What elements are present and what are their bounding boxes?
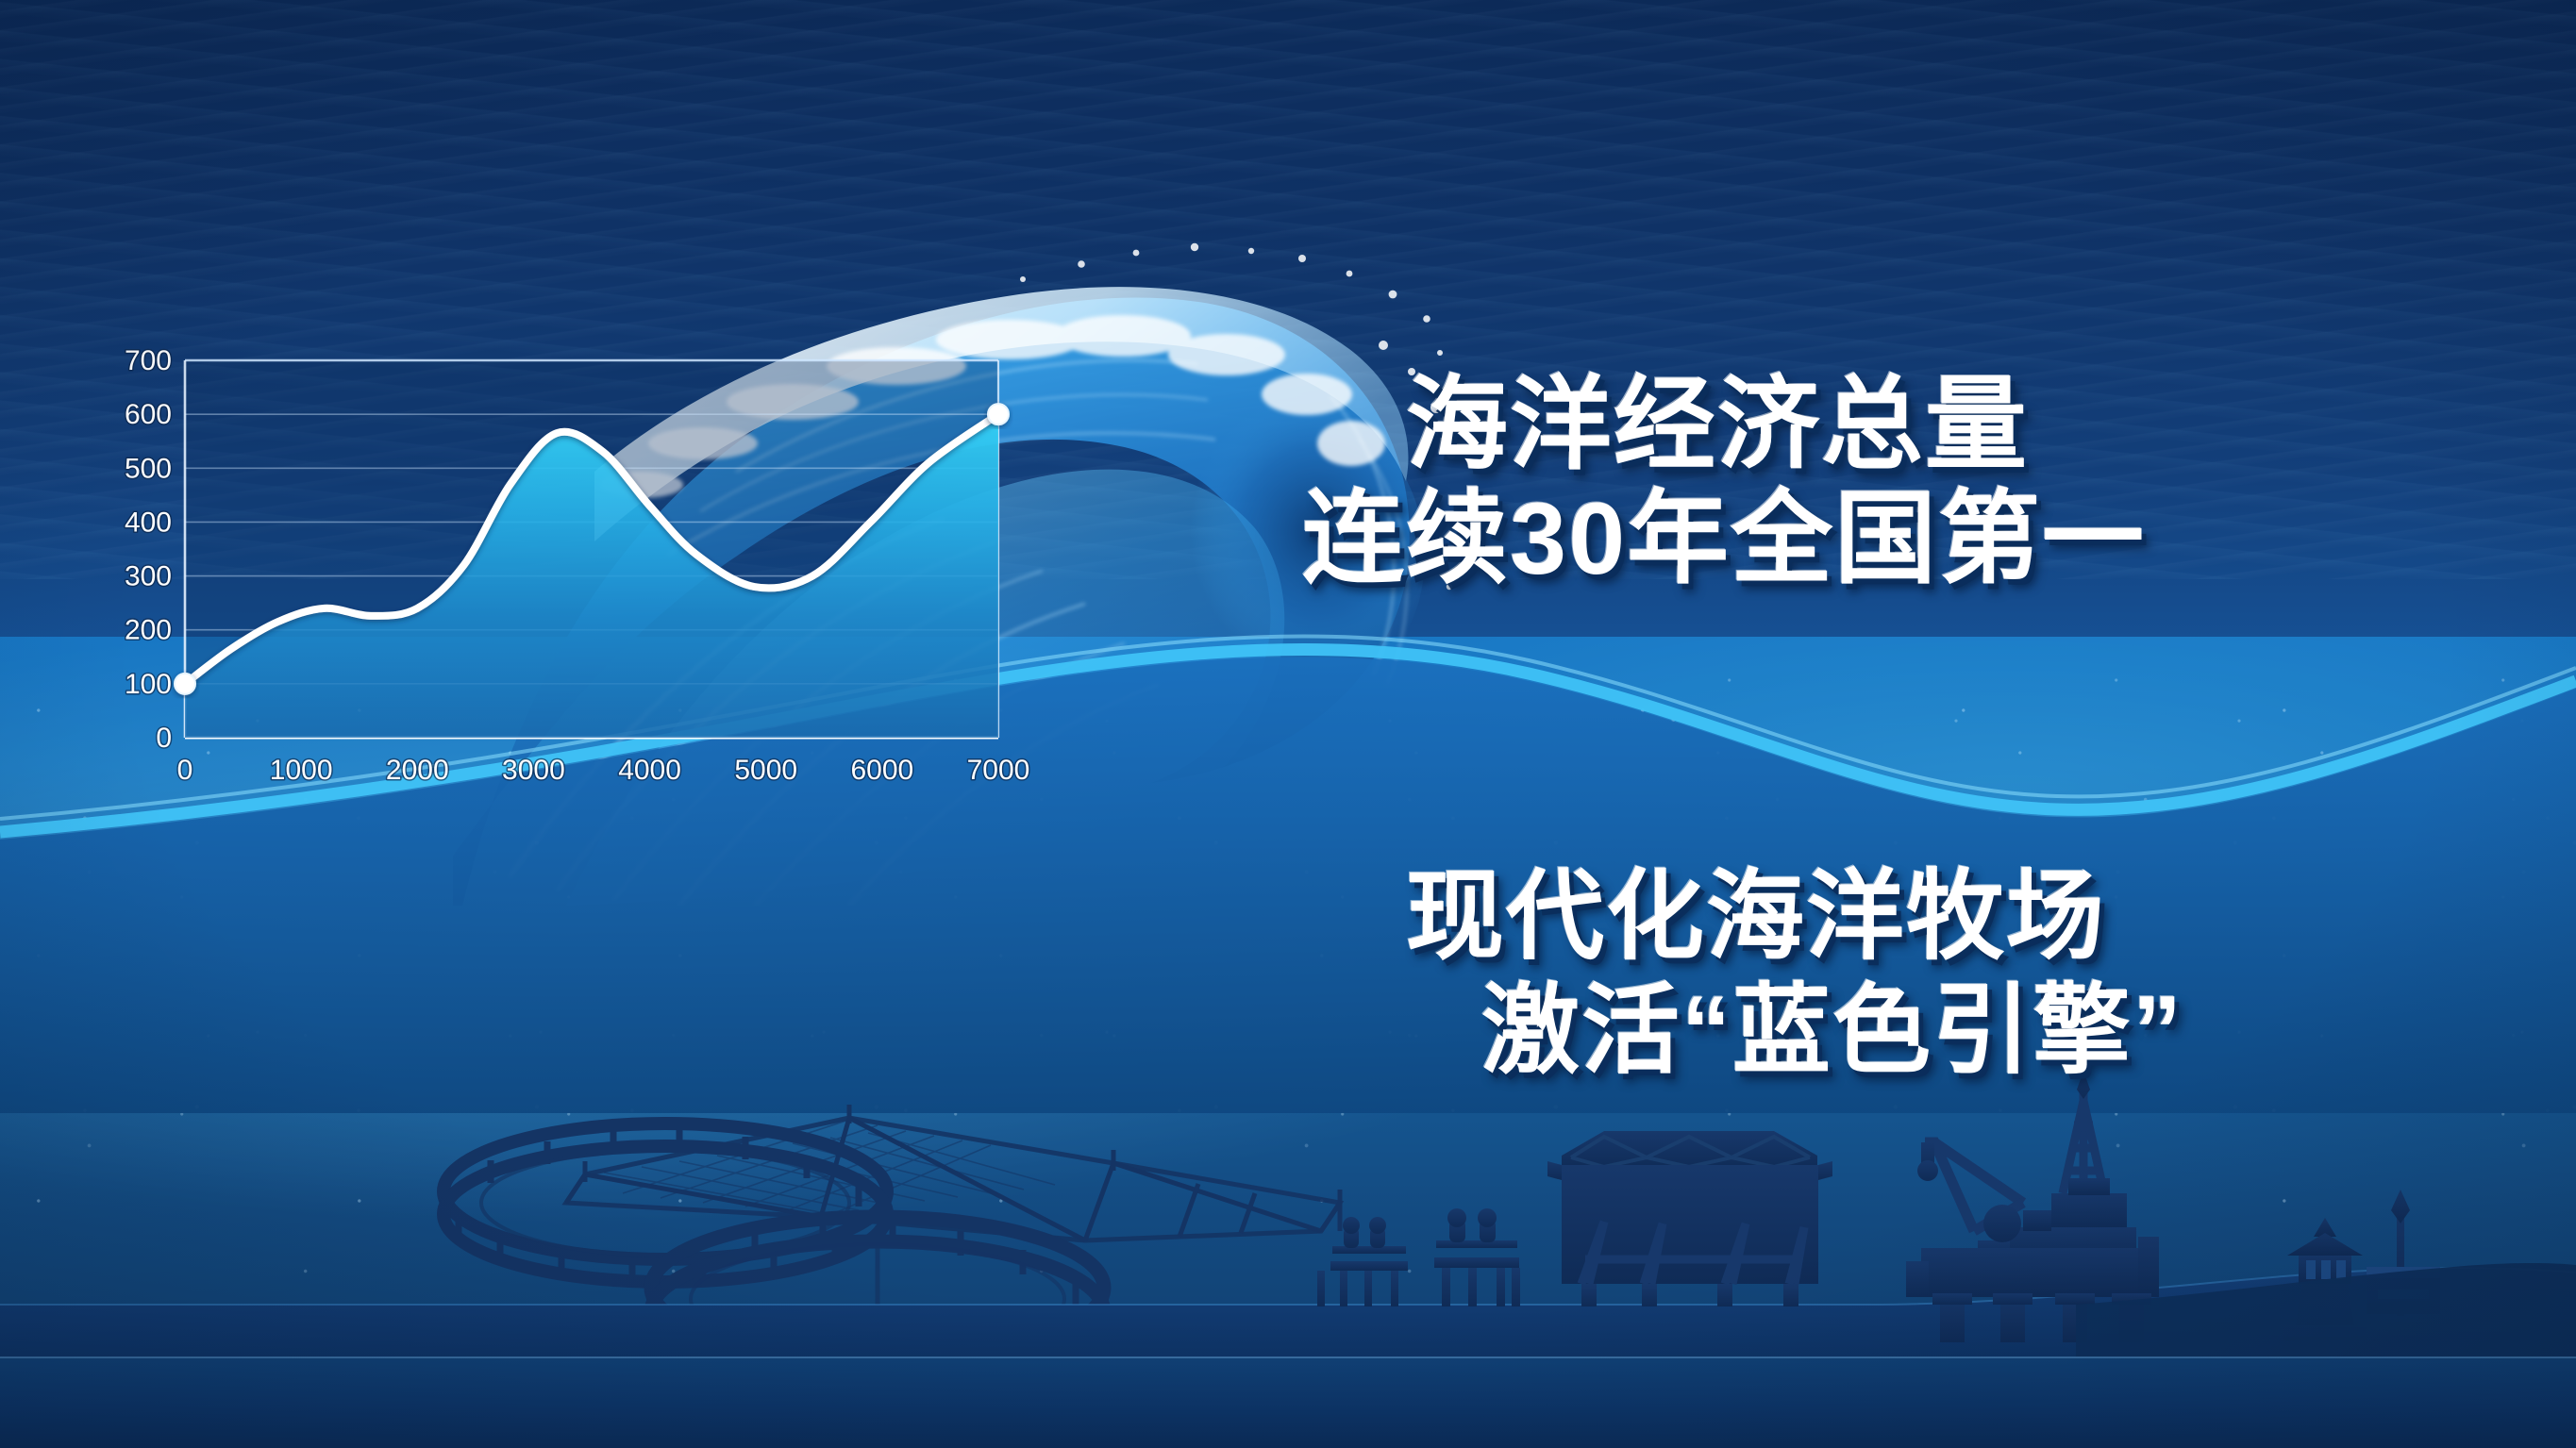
x-tick-label: 7000 — [967, 755, 1030, 786]
poster-canvas: 0100200300400500600700010002000300040005… — [0, 0, 2576, 1448]
y-tick-label: 600 — [125, 399, 172, 430]
y-tick-label: 200 — [125, 615, 172, 646]
headline-secondary-line2: 激活“蓝色引擎” — [1481, 974, 2183, 1089]
x-tick-label: 6000 — [850, 755, 913, 786]
y-tick-label: 500 — [125, 453, 172, 484]
ocean-economy-area-chart: 0100200300400500600700010002000300040005… — [111, 332, 1017, 804]
chart-point-marker-start[interactable] — [175, 674, 195, 694]
headline-secondary: 现代化海洋牧场 激活“蓝色引擎” — [1406, 860, 2183, 1088]
chart-y-axis-labels: 0100200300400500600700 — [125, 345, 172, 754]
y-tick-label: 100 — [125, 669, 172, 700]
x-tick-label: 0 — [177, 755, 193, 786]
y-tick-label: 300 — [125, 561, 172, 592]
headline-primary: 海洋经济总量 连续30年全国第一 — [1406, 368, 2146, 596]
headline-primary-line2: 连续30年全国第一 — [1302, 482, 2146, 596]
headline-secondary-line1: 现代化海洋牧场 — [1406, 860, 2183, 974]
y-tick-label: 700 — [125, 345, 172, 376]
x-tick-label: 5000 — [734, 755, 797, 786]
x-tick-label: 3000 — [502, 755, 565, 786]
y-tick-label: 0 — [156, 723, 172, 754]
chart-x-axis-labels: 01000200030004000500060007000 — [177, 755, 1030, 786]
y-tick-label: 400 — [125, 507, 172, 538]
x-tick-label: 1000 — [270, 755, 333, 786]
chart-point-marker-end[interactable] — [988, 404, 1009, 424]
marine-industry-silhouettes — [0, 1052, 2576, 1363]
deepsea-cage-platform — [1547, 1131, 1832, 1307]
small-platform-a — [1317, 1217, 1408, 1307]
x-tick-label: 2000 — [386, 755, 449, 786]
small-platform-b — [1434, 1208, 1520, 1307]
bottom-band — [0, 1356, 2576, 1448]
headline-primary-line1: 海洋经济总量 — [1406, 368, 2146, 482]
x-tick-label: 4000 — [618, 755, 681, 786]
